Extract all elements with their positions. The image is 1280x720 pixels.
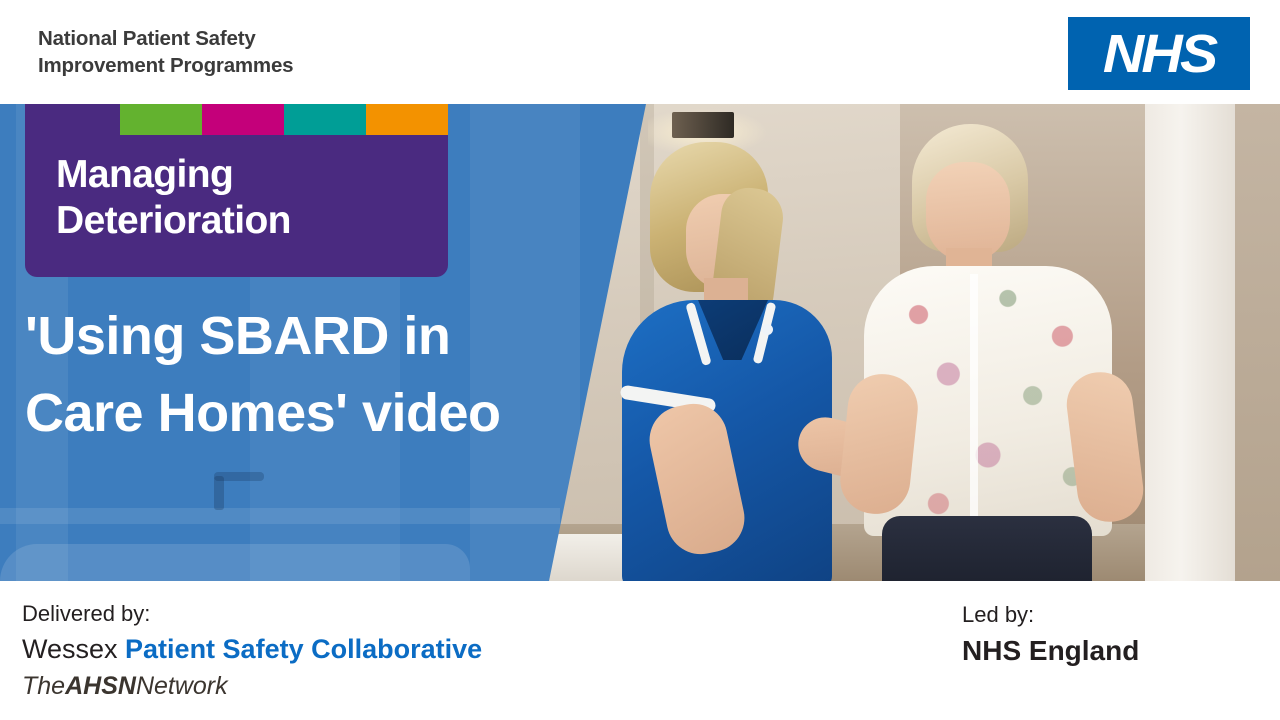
colour-swatch-green	[120, 104, 202, 135]
colour-swatch-orange	[366, 104, 448, 135]
ahsn-acronym: AHSN	[65, 672, 136, 700]
slide: National Patient Safety Improvement Prog…	[0, 0, 1280, 720]
nhs-logo: NHS	[1068, 17, 1250, 90]
delivered-by-label: Delivered by:	[22, 598, 482, 630]
hero-image-band: Managing Deterioration 'Using SBARD in C…	[0, 104, 1280, 581]
photo-far-right-wall	[1235, 104, 1280, 581]
footer-led-by: Led by: NHS England	[962, 599, 1139, 671]
programme-header-title: National Patient Safety Improvement Prog…	[38, 25, 293, 79]
ahsn-network: Network	[136, 672, 228, 700]
photo-ceiling-light	[672, 112, 734, 138]
led-by-organisation: NHS England	[962, 631, 1139, 671]
delivered-org-plain: Wessex	[22, 634, 125, 664]
delivered-org-accent: Patient Safety Collaborative	[125, 634, 482, 664]
colour-swatch-teal	[284, 104, 366, 135]
ahsn-the: The	[22, 672, 65, 700]
photo-nurse-figure	[612, 142, 852, 581]
footer-delivered-by: Delivered by: Wessex Patient Safety Coll…	[22, 598, 482, 706]
photo-pillar	[1145, 104, 1235, 581]
delivered-by-organisation: Wessex Patient Safety Collaborative	[22, 630, 482, 668]
programme-colour-bar	[25, 104, 448, 135]
slide-footer: Delivered by: Wessex Patient Safety Coll…	[0, 581, 1280, 720]
patient-blouse-placket	[970, 274, 978, 524]
slide-header: National Patient Safety Improvement Prog…	[0, 0, 1280, 104]
overlay-window-sill	[0, 508, 560, 524]
programme-brand-box: Managing Deterioration	[25, 104, 448, 277]
nurse-badge	[762, 324, 773, 335]
programme-name: Managing Deterioration	[56, 152, 291, 244]
overlay-tap-body	[214, 476, 224, 510]
slide-main-title: 'Using SBARD in Care Homes' video	[25, 298, 525, 451]
photo-patient-figure	[858, 124, 1138, 581]
colour-swatch-magenta	[202, 104, 284, 135]
patient-face	[926, 162, 1010, 262]
ahsn-network-wordmark: TheAHSNNetwork	[22, 668, 482, 706]
overlay-bedding	[0, 544, 470, 581]
patient-trousers	[882, 516, 1092, 581]
colour-swatch-purple	[25, 104, 120, 135]
led-by-label: Led by:	[962, 599, 1139, 631]
nhs-logo-text: NHS	[1103, 27, 1216, 81]
